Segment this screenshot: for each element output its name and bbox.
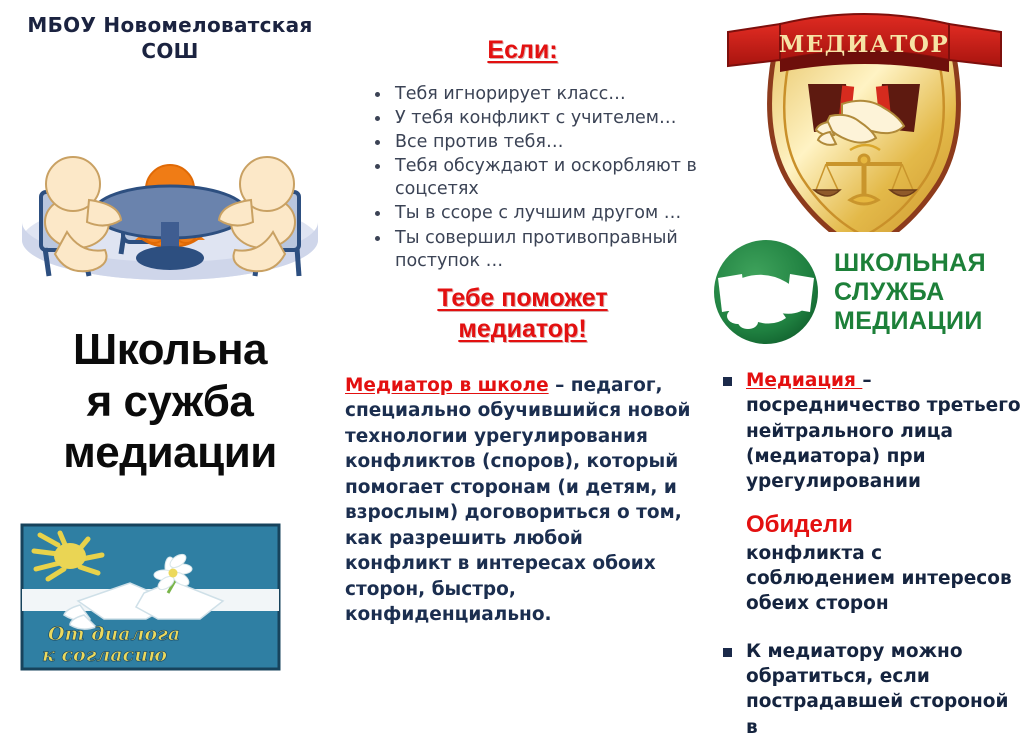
if-heading: Если:	[345, 36, 700, 65]
list-item: К медиатору можно обратиться, если постр…	[720, 639, 1024, 740]
obideli-heading: Обидели	[746, 511, 1024, 539]
mediator-shield-emblem: МЕДИАТОР	[722, 4, 1007, 232]
left-column: МБОУ Новомеловатская СОШ	[0, 0, 340, 724]
school-mediation-service-logo: ШКОЛЬНАЯ СЛУЖБА МЕДИАЦИИ	[706, 238, 1024, 346]
logo-line-3: МЕДИАЦИИ	[834, 307, 986, 336]
mediator-definition: Медиатор в школе – педагог, специально о…	[345, 373, 700, 628]
mediation-points-list-2: К медиатору можно обратиться, если постр…	[706, 639, 1024, 740]
school-name: МБОУ Новомеловатская СОШ	[0, 0, 340, 64]
mediation-table-illustration	[11, 72, 329, 284]
ot-dialoga-k-soglasiyu-poster: От диалога к согласию	[18, 521, 283, 673]
logo-text: ШКОЛЬНАЯ СЛУЖБА МЕДИАЦИИ	[834, 249, 986, 336]
brochure-page: МБОУ Новомеловатская СОШ	[0, 0, 1024, 724]
list-item: У тебя конфликт с учителем…	[371, 107, 700, 130]
page-title: Школьна я сужба медиации	[0, 324, 340, 478]
list-item: Тебя обсуждают и оскорбляют в соцсетях	[371, 155, 700, 201]
handshake-icon	[712, 238, 820, 346]
logo-line-2: СЛУЖБА	[834, 278, 986, 307]
logo-line-1: ШКОЛЬНАЯ	[834, 249, 986, 278]
obideli-subtext: конфликта с соблюдением интересов обеих …	[746, 541, 1024, 617]
if-conditions-list: Тебя игнорирует класс… У тебя конфликт с…	[345, 83, 700, 273]
poster-line-1: От диалога	[48, 623, 180, 645]
page-title-line-1: Школьна	[0, 324, 340, 375]
middle-column: Если: Тебя игнорирует класс… У тебя конф…	[345, 0, 700, 724]
cta-line-2: медиатор!	[345, 314, 700, 345]
mediation-points-list: Медиация – посредничество третьего нейтр…	[706, 368, 1024, 495]
list-item: Медиация – посредничество третьего нейтр…	[720, 368, 1024, 495]
page-title-line-3: медиации	[0, 427, 340, 478]
list-item: Ты совершил противоправный поступок …	[371, 227, 700, 273]
emblem-container: МЕДИАТОР	[706, 0, 1024, 232]
poster-container: От диалога к согласию	[0, 521, 340, 673]
page-title-line-2: я сужба	[0, 376, 340, 427]
emblem-banner-text: МЕДИАТОР	[779, 31, 949, 58]
mediator-definition-lead: Медиатор в школе	[345, 375, 549, 396]
list-item: Все против тебя…	[371, 131, 700, 154]
call-to-action: Тебе поможет медиатор!	[345, 283, 700, 345]
cta-line-1: Тебе поможет	[345, 283, 700, 314]
mediator-definition-body: – педагог, специально обучившийся новой …	[345, 375, 690, 626]
right-column: МЕДИАТОР	[706, 0, 1024, 724]
mediation-term-lead: Медиация	[746, 370, 862, 391]
list-item: Ты в ссоре с лучшим другом …	[371, 202, 700, 225]
poster-line-2: к согласию	[42, 644, 167, 666]
list-item: Тебя игнорирует класс…	[371, 83, 700, 106]
